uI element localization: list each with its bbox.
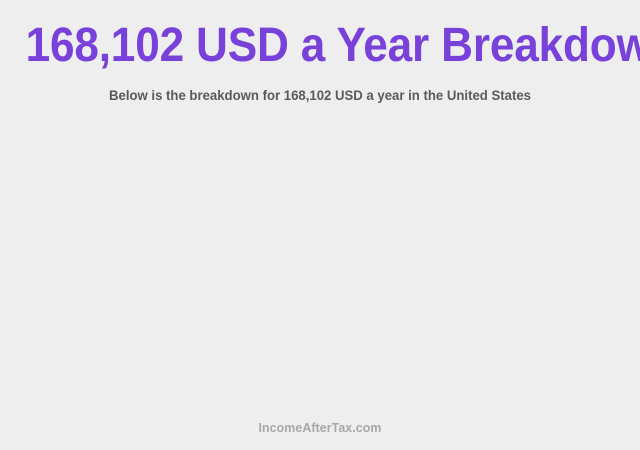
page-footer: IncomeAfterTax.com bbox=[0, 420, 640, 436]
page-title: 168,102 USD a Year Breakdown bbox=[26, 20, 615, 72]
page-subtitle: Below is the breakdown for 168,102 USD a… bbox=[19, 86, 621, 104]
breakdown-content-area bbox=[0, 112, 640, 408]
page-root: 168,102 USD a Year Breakdown Below is th… bbox=[0, 0, 640, 450]
site-name-label: IncomeAfterTax.com bbox=[16, 420, 624, 436]
